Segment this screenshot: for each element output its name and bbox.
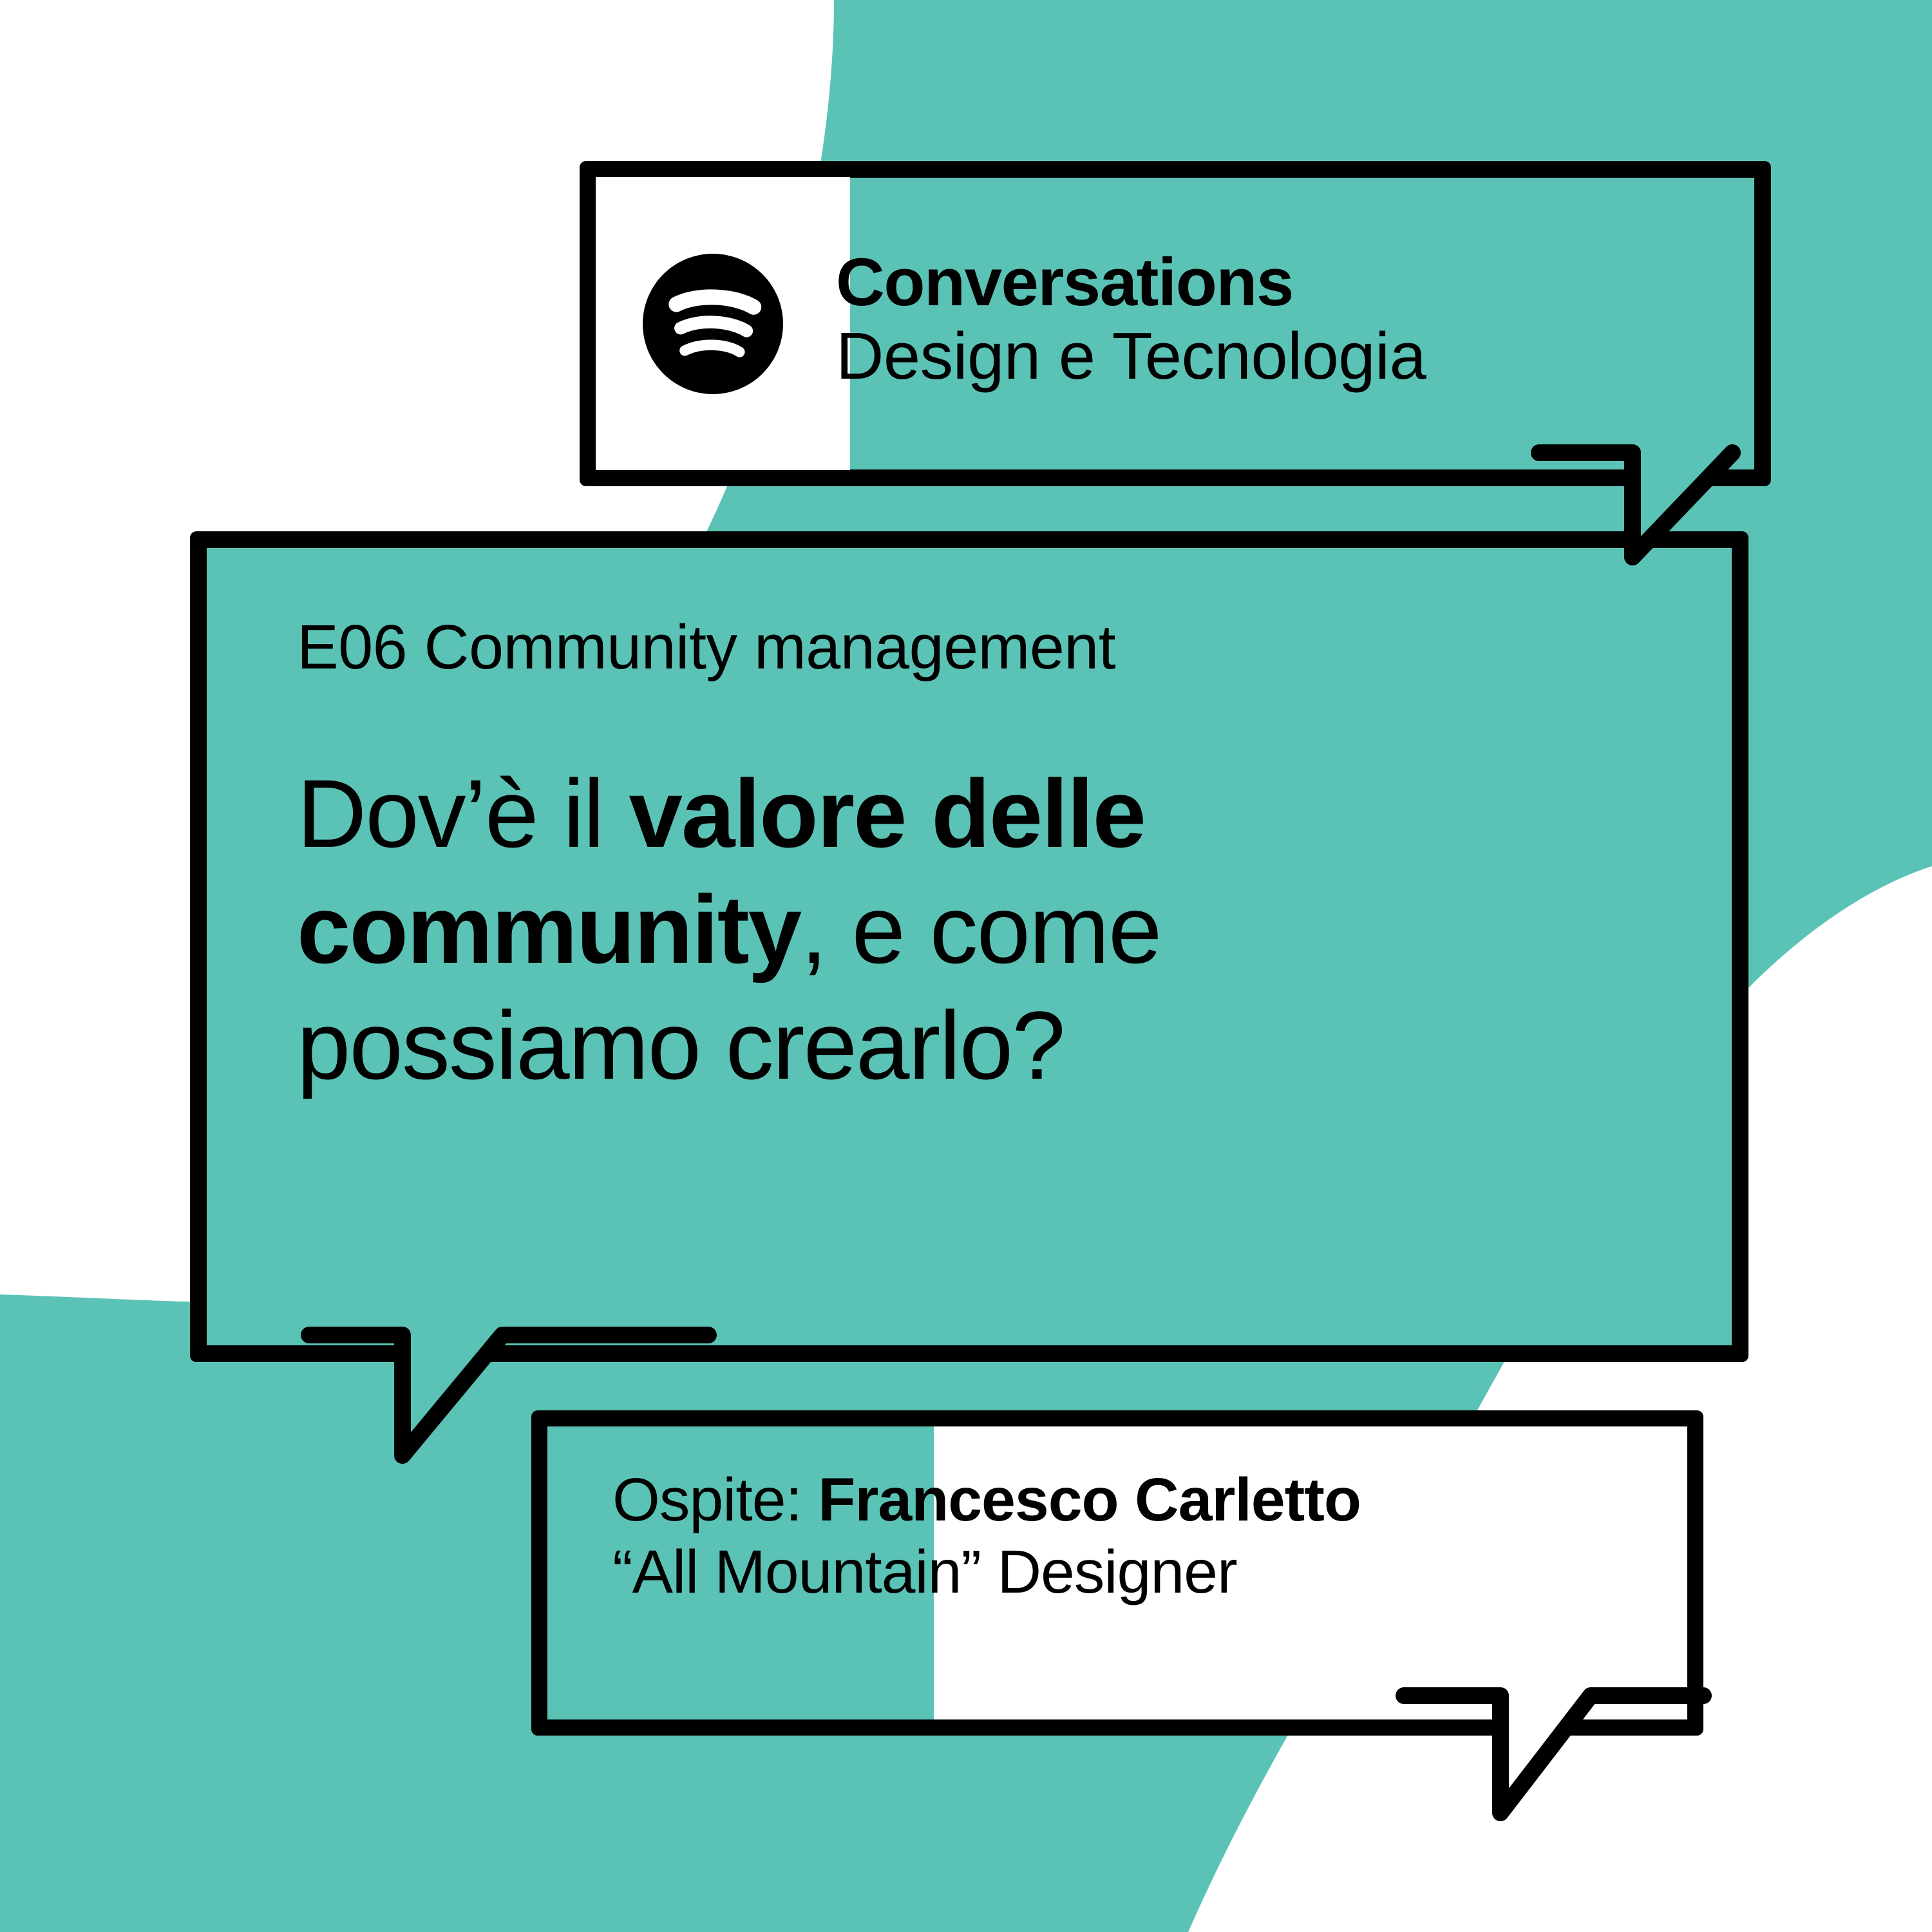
main-speech-bubble: E06 Community management Dov’è il valore… xyxy=(190,531,1748,1362)
show-subtitle: Design e Tecnologia xyxy=(836,317,1426,395)
header-bubble-tail xyxy=(1539,444,1810,657)
podcast-cover: Conversations Design e Tecnologia E06 Co… xyxy=(0,0,1932,1932)
question-text-lead: Dov’è il xyxy=(297,759,629,867)
guest-label: Ospite: xyxy=(612,1466,818,1534)
spotify-icon xyxy=(643,254,783,394)
episode-question: Dov’è il valore delle community, e come … xyxy=(297,755,1585,1103)
header-speech-bubble: Conversations Design e Tecnologia xyxy=(580,161,1771,486)
guest-role: “All Mountain” Designer xyxy=(612,1533,1687,1612)
show-title: Conversations xyxy=(836,248,1426,317)
episode-label: E06 Community management xyxy=(297,616,1732,678)
guest-bubble-tail xyxy=(1404,1687,1765,1900)
guest-name: Francesco Carletto xyxy=(818,1466,1361,1534)
guest-name-line: Ospite: Francesco Carletto xyxy=(612,1467,1687,1533)
